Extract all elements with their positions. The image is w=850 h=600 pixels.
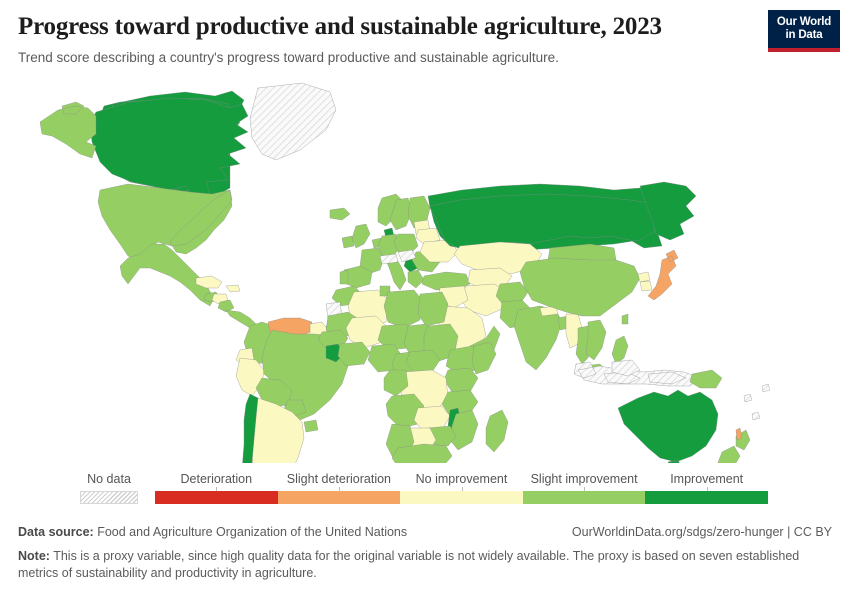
our-world-in-data-logo[interactable]: Our World in Data: [768, 10, 840, 52]
country-austria-switzerland[interactable]: [380, 254, 398, 264]
country-south-korea[interactable]: [640, 281, 652, 291]
chart-subtitle: Trend score describing a country's progr…: [18, 49, 832, 67]
country-egypt[interactable]: [418, 292, 448, 326]
legend-label-slight-deterioration: Slight deterioration: [287, 472, 391, 486]
legend-swatch-slight-improvement[interactable]: [523, 491, 646, 504]
country-russia[interactable]: [428, 184, 680, 252]
legend-label-slight-improvement: Slight improvement: [531, 472, 638, 486]
legend-tick: [707, 487, 708, 491]
legend-tick: [584, 487, 585, 491]
legend-label-deterioration: Deterioration: [181, 472, 253, 486]
page-title: Progress toward productive and sustainab…: [18, 12, 832, 42]
country-portugal[interactable]: [340, 270, 348, 284]
legend-label-no-data: No data: [87, 472, 131, 486]
data-source-text: Data source: Food and Agriculture Organi…: [18, 524, 407, 541]
map-legend: No dataDeteriorationSlight deterioration…: [0, 472, 850, 510]
legend-swatch-slight-deterioration[interactable]: [278, 491, 401, 504]
legend-tick: [216, 487, 217, 491]
logo-line-2: in Data: [786, 29, 823, 42]
legend-label-no-improvement: No improvement: [416, 472, 508, 486]
note-value: This is a proxy variable, since high qua…: [18, 549, 799, 580]
owid-link[interactable]: OurWorldinData.org/sdgs/zero-hunger | CC…: [572, 524, 832, 541]
world-choropleth-map[interactable]: [0, 78, 850, 463]
legend-swatch-no-improvement[interactable]: [400, 491, 523, 504]
source-row: Data source: Food and Agriculture Organi…: [18, 524, 832, 544]
note-row: Note: This is a proxy variable, since hi…: [18, 548, 818, 582]
legend-tick: [462, 487, 463, 491]
note-label: Note:: [18, 549, 50, 563]
legend-swatch-no-data[interactable]: [80, 491, 138, 504]
legend-tick: [339, 487, 340, 491]
legend-labels: No dataDeteriorationSlight deterioration…: [0, 472, 850, 490]
chart-footer: Data source: Food and Agriculture Organi…: [18, 524, 832, 582]
logo-line-1: Our World: [777, 16, 831, 29]
legend-label-improvement: Improvement: [670, 472, 743, 486]
legend-color-bar: [0, 491, 850, 504]
country-uruguay[interactable]: [304, 420, 318, 432]
legend-swatch-improvement[interactable]: [645, 491, 768, 504]
country-north-korea[interactable]: [638, 272, 650, 282]
data-source-label: Data source:: [18, 525, 94, 539]
data-source-value: Food and Agriculture Organization of the…: [97, 525, 407, 539]
chart-header: Progress toward productive and sustainab…: [18, 12, 832, 74]
legend-swatch-deterioration[interactable]: [155, 491, 278, 504]
